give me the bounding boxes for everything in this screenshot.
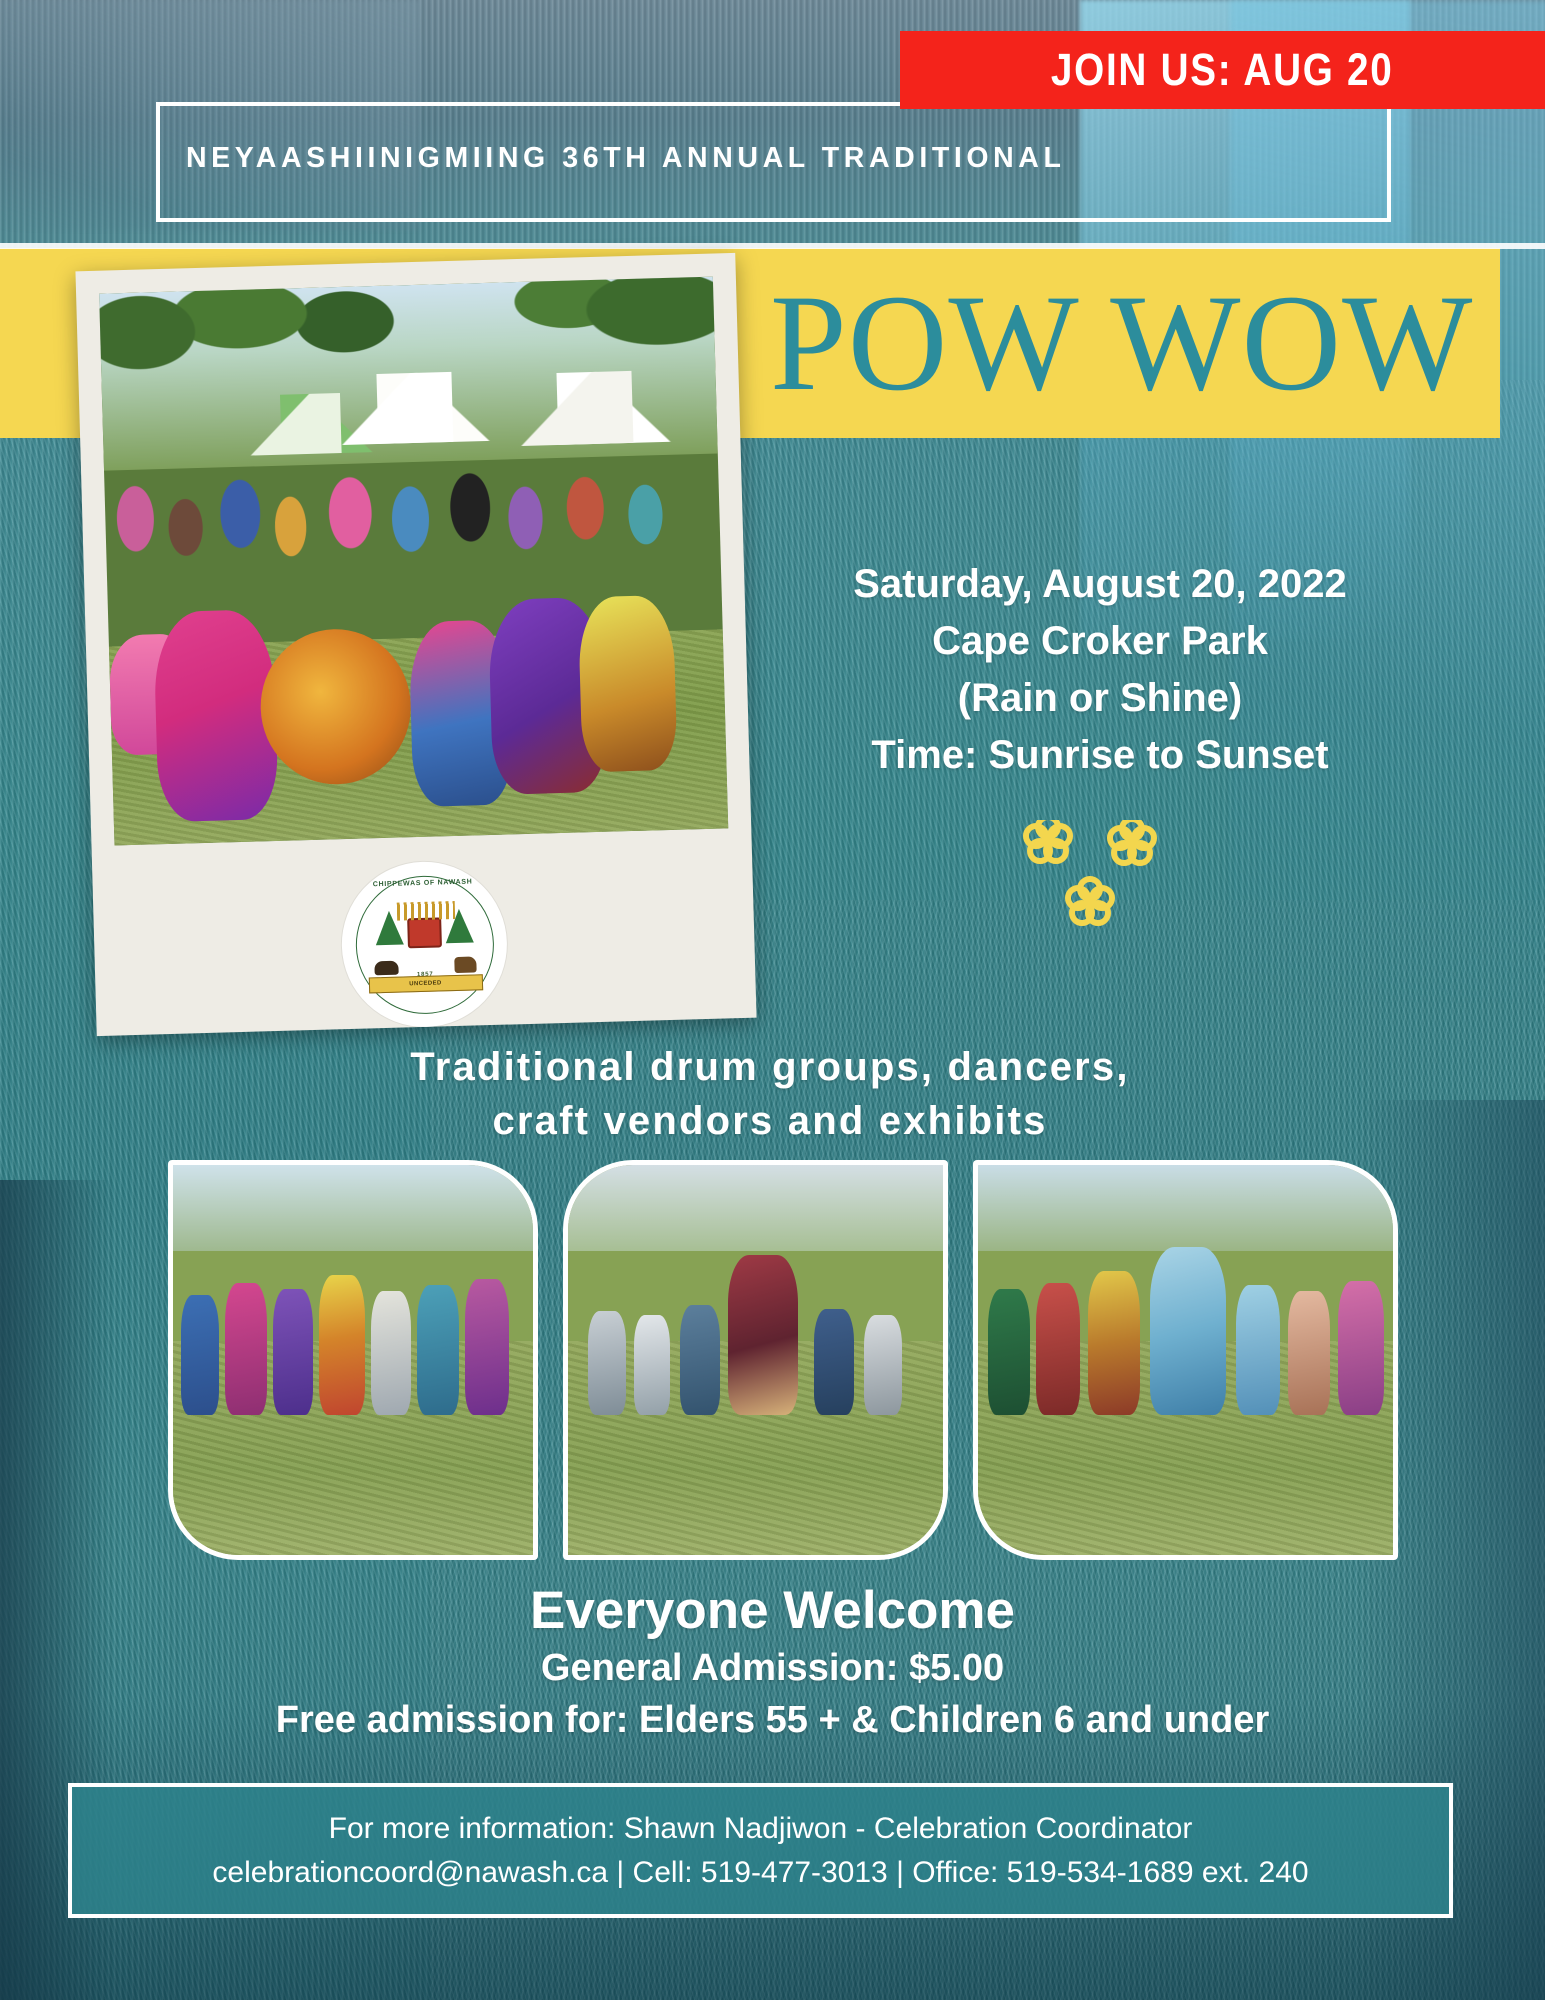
event-details: Saturday, August 20, 2022 Cape Croker Pa… xyxy=(760,556,1440,784)
flower-decoration xyxy=(1020,820,1190,960)
photo-strip xyxy=(168,1160,1398,1560)
contact-footer: For more information: Shawn Nadjiwon - C… xyxy=(68,1783,1453,1918)
page-title: NEYAASHIINIGMIING 36TH ANNUAL TRADITIONA… xyxy=(186,142,1366,175)
event-rain-or-shine: (Rain or Shine) xyxy=(760,670,1440,727)
poster-root: JOIN US: AUG 20 NEYAASHIINIGMIING 36TH A… xyxy=(0,0,1545,2000)
join-us-badge: JOIN US: AUG 20 xyxy=(900,31,1545,109)
general-admission: General Admission: $5.00 xyxy=(100,1642,1445,1694)
seal-banner-text: UNCEDED xyxy=(368,974,482,993)
event-location: Cape Croker Park xyxy=(760,613,1440,670)
main-photo-polaroid: CHIPPEWAS OF NAWASH 1857 UNCEDED xyxy=(75,253,756,1036)
strip-photo-1 xyxy=(168,1160,538,1560)
band-seal-logo: CHIPPEWAS OF NAWASH 1857 UNCEDED xyxy=(340,860,510,1030)
contact-coordinator: For more information: Shawn Nadjiwon - C… xyxy=(329,1807,1193,1851)
contact-details: celebrationcoord@nawash.ca | Cell: 519-4… xyxy=(212,1851,1308,1895)
powwow-title: POW WOW xyxy=(770,268,1460,418)
admission-info: Everyone Welcome General Admission: $5.0… xyxy=(100,1580,1445,1746)
strip-photo-2 xyxy=(563,1160,948,1560)
strip-photo-figures xyxy=(568,1235,943,1414)
strip-photo-3 xyxy=(973,1160,1398,1560)
event-date: Saturday, August 20, 2022 xyxy=(760,556,1440,613)
flowers-icon xyxy=(1020,820,1190,960)
subtitle-line-2: craft vendors and exhibits xyxy=(180,1094,1360,1148)
strip-photo-figures xyxy=(173,1235,533,1414)
free-admission: Free admission for: Elders 55 + & Childr… xyxy=(100,1694,1445,1746)
subtitle: Traditional drum groups, dancers, craft … xyxy=(180,1040,1360,1148)
everyone-welcome: Everyone Welcome xyxy=(100,1580,1445,1642)
photo-dancer xyxy=(153,609,279,822)
join-us-label: JOIN US: AUG 20 xyxy=(1051,44,1394,96)
event-time: Time: Sunrise to Sunset xyxy=(760,727,1440,784)
strip-photo-figures xyxy=(978,1235,1393,1414)
seal-drum-icon xyxy=(407,917,442,948)
photo-dancer xyxy=(578,595,678,773)
subtitle-line-1: Traditional drum groups, dancers, xyxy=(180,1040,1360,1094)
band-top-edge xyxy=(0,243,1545,249)
main-photo-image xyxy=(99,277,728,846)
